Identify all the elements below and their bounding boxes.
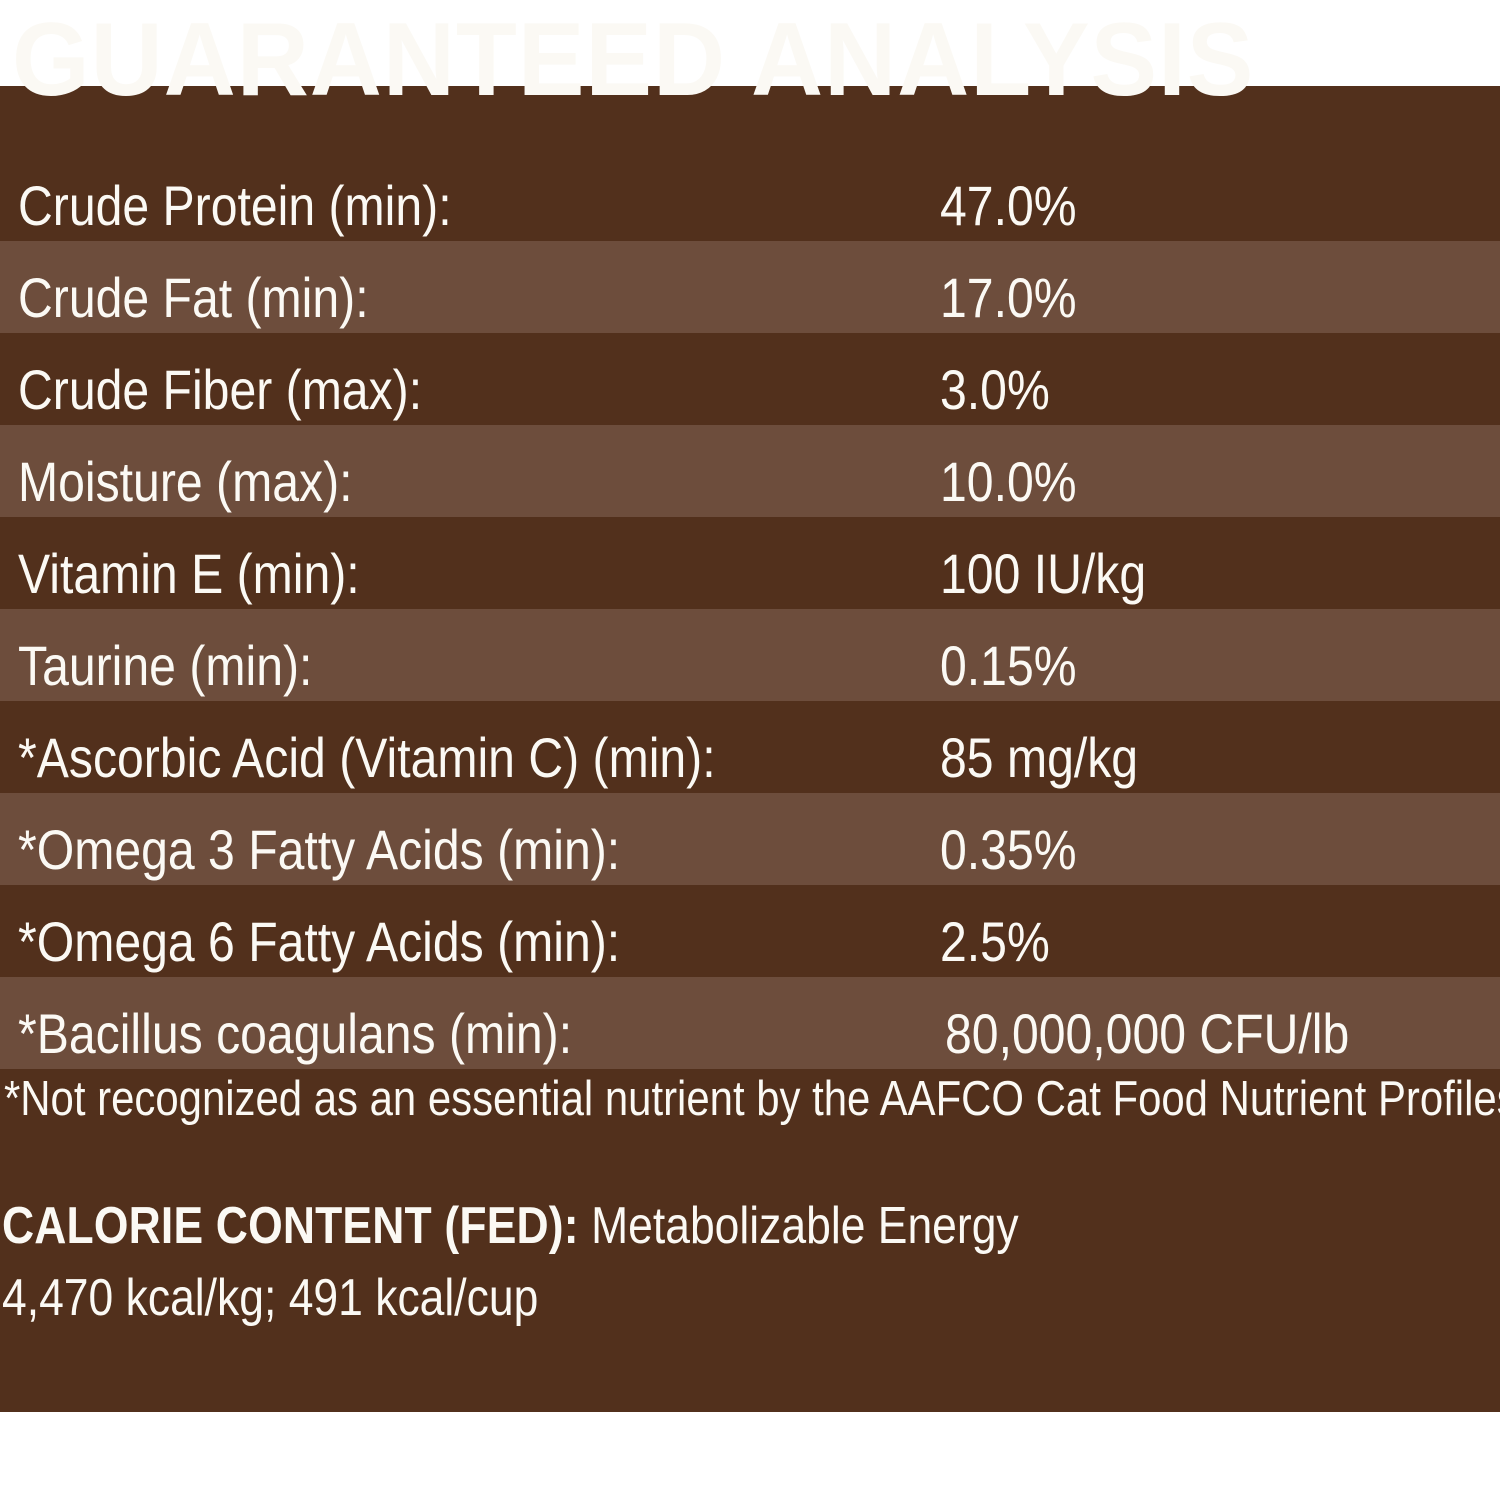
table-row: Crude Fat (min): 17.0% [0,241,1500,333]
table-row: Crude Fiber (max): 3.0% [0,333,1500,425]
nutrient-value: 0.15% [940,637,1077,695]
calorie-content-values: 4,470 kcal/kg; 491 kcal/cup [2,1262,1285,1334]
nutrient-value: 0.35% [940,821,1077,879]
calorie-content-label: CALORIE CONTENT (FED): [2,1197,579,1255]
nutrient-label: *Bacillus coagulans (min): [18,1005,572,1063]
nutrient-label: *Omega 6 Fatty Acids (min): [18,913,620,971]
page-title: GUARANTEED ANALYSIS [12,8,1452,118]
nutrient-label: Vitamin E (min): [18,545,360,603]
nutrient-value: 85 mg/kg [940,729,1138,787]
table-row: Vitamin E (min): 100 IU/kg [0,517,1500,609]
table-row: Crude Protein (min): 47.0% [0,149,1500,241]
nutrient-label: *Ascorbic Acid (Vitamin C) (min): [18,729,716,787]
table-row: Moisture (max): 10.0% [0,425,1500,517]
table-row: *Omega 6 Fatty Acids (min): 2.5% [0,885,1500,977]
nutrient-label: Crude Fiber (max): [18,361,422,419]
nutrient-value: 2.5% [940,913,1050,971]
nutrient-value: 17.0% [940,269,1077,327]
nutrient-label: Moisture (max): [18,453,352,511]
nutrient-value: 10.0% [940,453,1077,511]
nutrient-label: Crude Fat (min): [18,269,369,327]
guaranteed-analysis-panel: GUARANTEED ANALYSIS Crude Protein (min):… [0,0,1500,1500]
nutrient-label: *Omega 3 Fatty Acids (min): [18,821,620,879]
table-row: *Bacillus coagulans (min): 80,000,000 CF… [0,977,1500,1069]
nutrient-value: 3.0% [940,361,1050,419]
nutrient-label: Taurine (min): [18,637,312,695]
calorie-content-energy: Metabolizable Energy [579,1197,1019,1255]
nutrient-label: Crude Protein (min): [18,177,452,235]
nutrient-value: 47.0% [940,177,1077,235]
nutrient-value: 80,000,000 CFU/lb [945,1005,1349,1063]
table-row: *Ascorbic Acid (Vitamin C) (min): 85 mg/… [0,701,1500,793]
table-row: Taurine (min): 0.15% [0,609,1500,701]
guaranteed-analysis-table: Crude Protein (min): 47.0% Crude Fat (mi… [0,149,1500,1069]
table-row: *Omega 3 Fatty Acids (min): 0.35% [0,793,1500,885]
aafco-footnote: *Not recognized as an essential nutrient… [4,1072,1287,1126]
calorie-content-block: CALORIE CONTENT (FED): Metabolizable Ene… [2,1190,1285,1334]
nutrient-value: 100 IU/kg [940,545,1146,603]
